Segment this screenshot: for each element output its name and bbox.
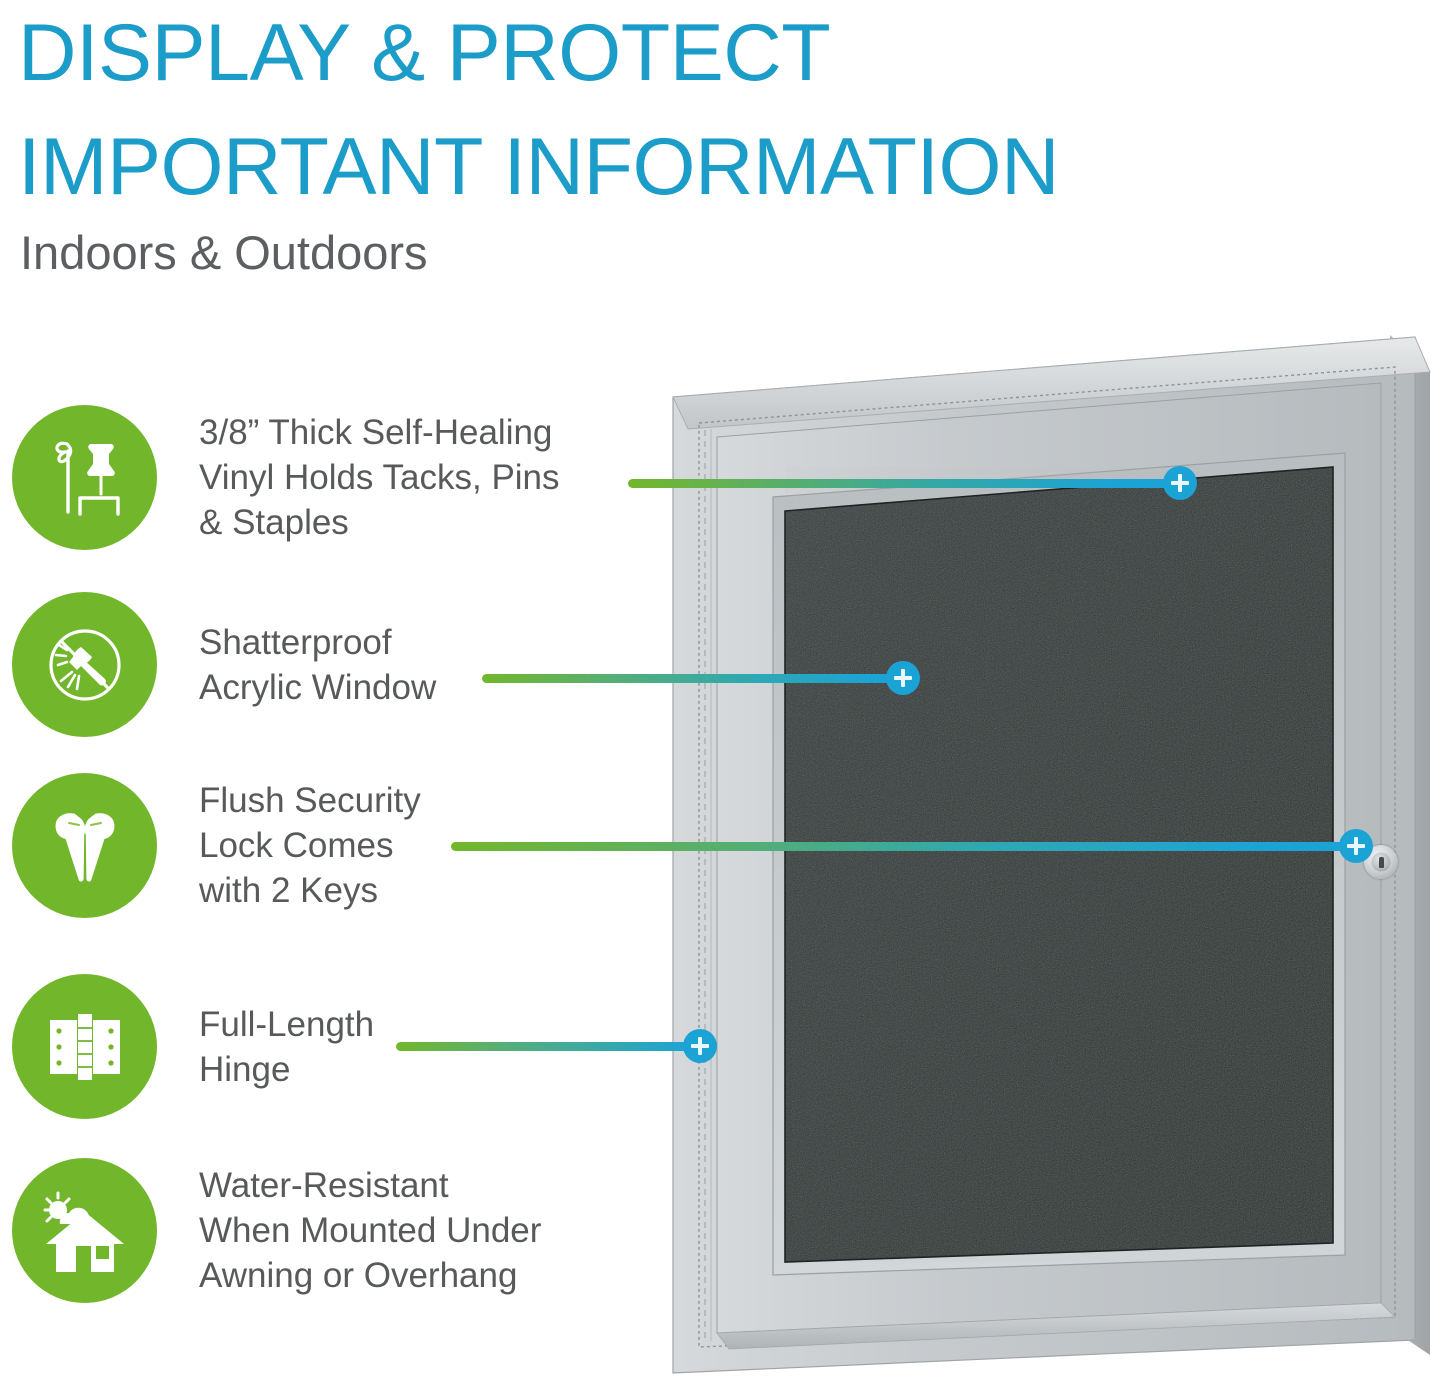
lock-cylinder (1372, 853, 1391, 872)
hinge-icon (12, 974, 157, 1119)
feature-label: Flush Security Lock Comes with 2 Keys (199, 778, 421, 913)
feature-label: Water-Resistant When Mounted Under Awnin… (199, 1163, 541, 1298)
callout-line-hinge (396, 1042, 706, 1051)
headline-line-1: DISPLAY & PROTECT (18, 0, 1358, 110)
feature-item-security-lock[interactable]: Flush Security Lock Comes with 2 Keys (0, 773, 421, 918)
feature-label: Full-Length Hinge (199, 1002, 374, 1092)
house-sun-rain-icon (12, 1158, 157, 1303)
callout-line-vinyl (628, 479, 1184, 488)
keyhole-icon (1379, 857, 1384, 868)
callout-marker-vinyl[interactable] (1163, 466, 1197, 500)
callout-line-lock (451, 842, 1357, 851)
feature-label: 3/8” Thick Self-Healing Vinyl Holds Tack… (199, 410, 560, 545)
feature-label: Shatterproof Acrylic Window (199, 620, 436, 710)
headline-line-2: IMPORTANT INFORMATION (18, 110, 1358, 224)
feature-item-water-resistant[interactable]: Water-Resistant When Mounted Under Awnin… (0, 1158, 541, 1303)
no-hammer-shatterproof-icon (12, 592, 157, 737)
callout-line-acrylic (482, 674, 910, 683)
vinyl-tack-surface (785, 467, 1333, 1262)
page-subtitle: Indoors & Outdoors (20, 225, 428, 281)
feature-item-self-healing-vinyl[interactable]: 3/8” Thick Self-Healing Vinyl Holds Tack… (0, 405, 560, 550)
callout-marker-hinge[interactable] (683, 1029, 717, 1063)
product-feature-infographic: DISPLAY & PROTECT IMPORTANT INFORMATION … (0, 0, 1445, 1391)
pin-tack-staple-icon (12, 405, 157, 550)
page-title: DISPLAY & PROTECT IMPORTANT INFORMATION (18, 0, 1358, 224)
feature-item-shatterproof-acrylic[interactable]: Shatterproof Acrylic Window (0, 592, 436, 737)
callout-marker-lock[interactable] (1339, 829, 1373, 863)
two-keys-icon (12, 773, 157, 918)
feature-item-full-length-hinge[interactable]: Full-Length Hinge (0, 974, 374, 1119)
callout-marker-acrylic[interactable] (886, 661, 920, 695)
